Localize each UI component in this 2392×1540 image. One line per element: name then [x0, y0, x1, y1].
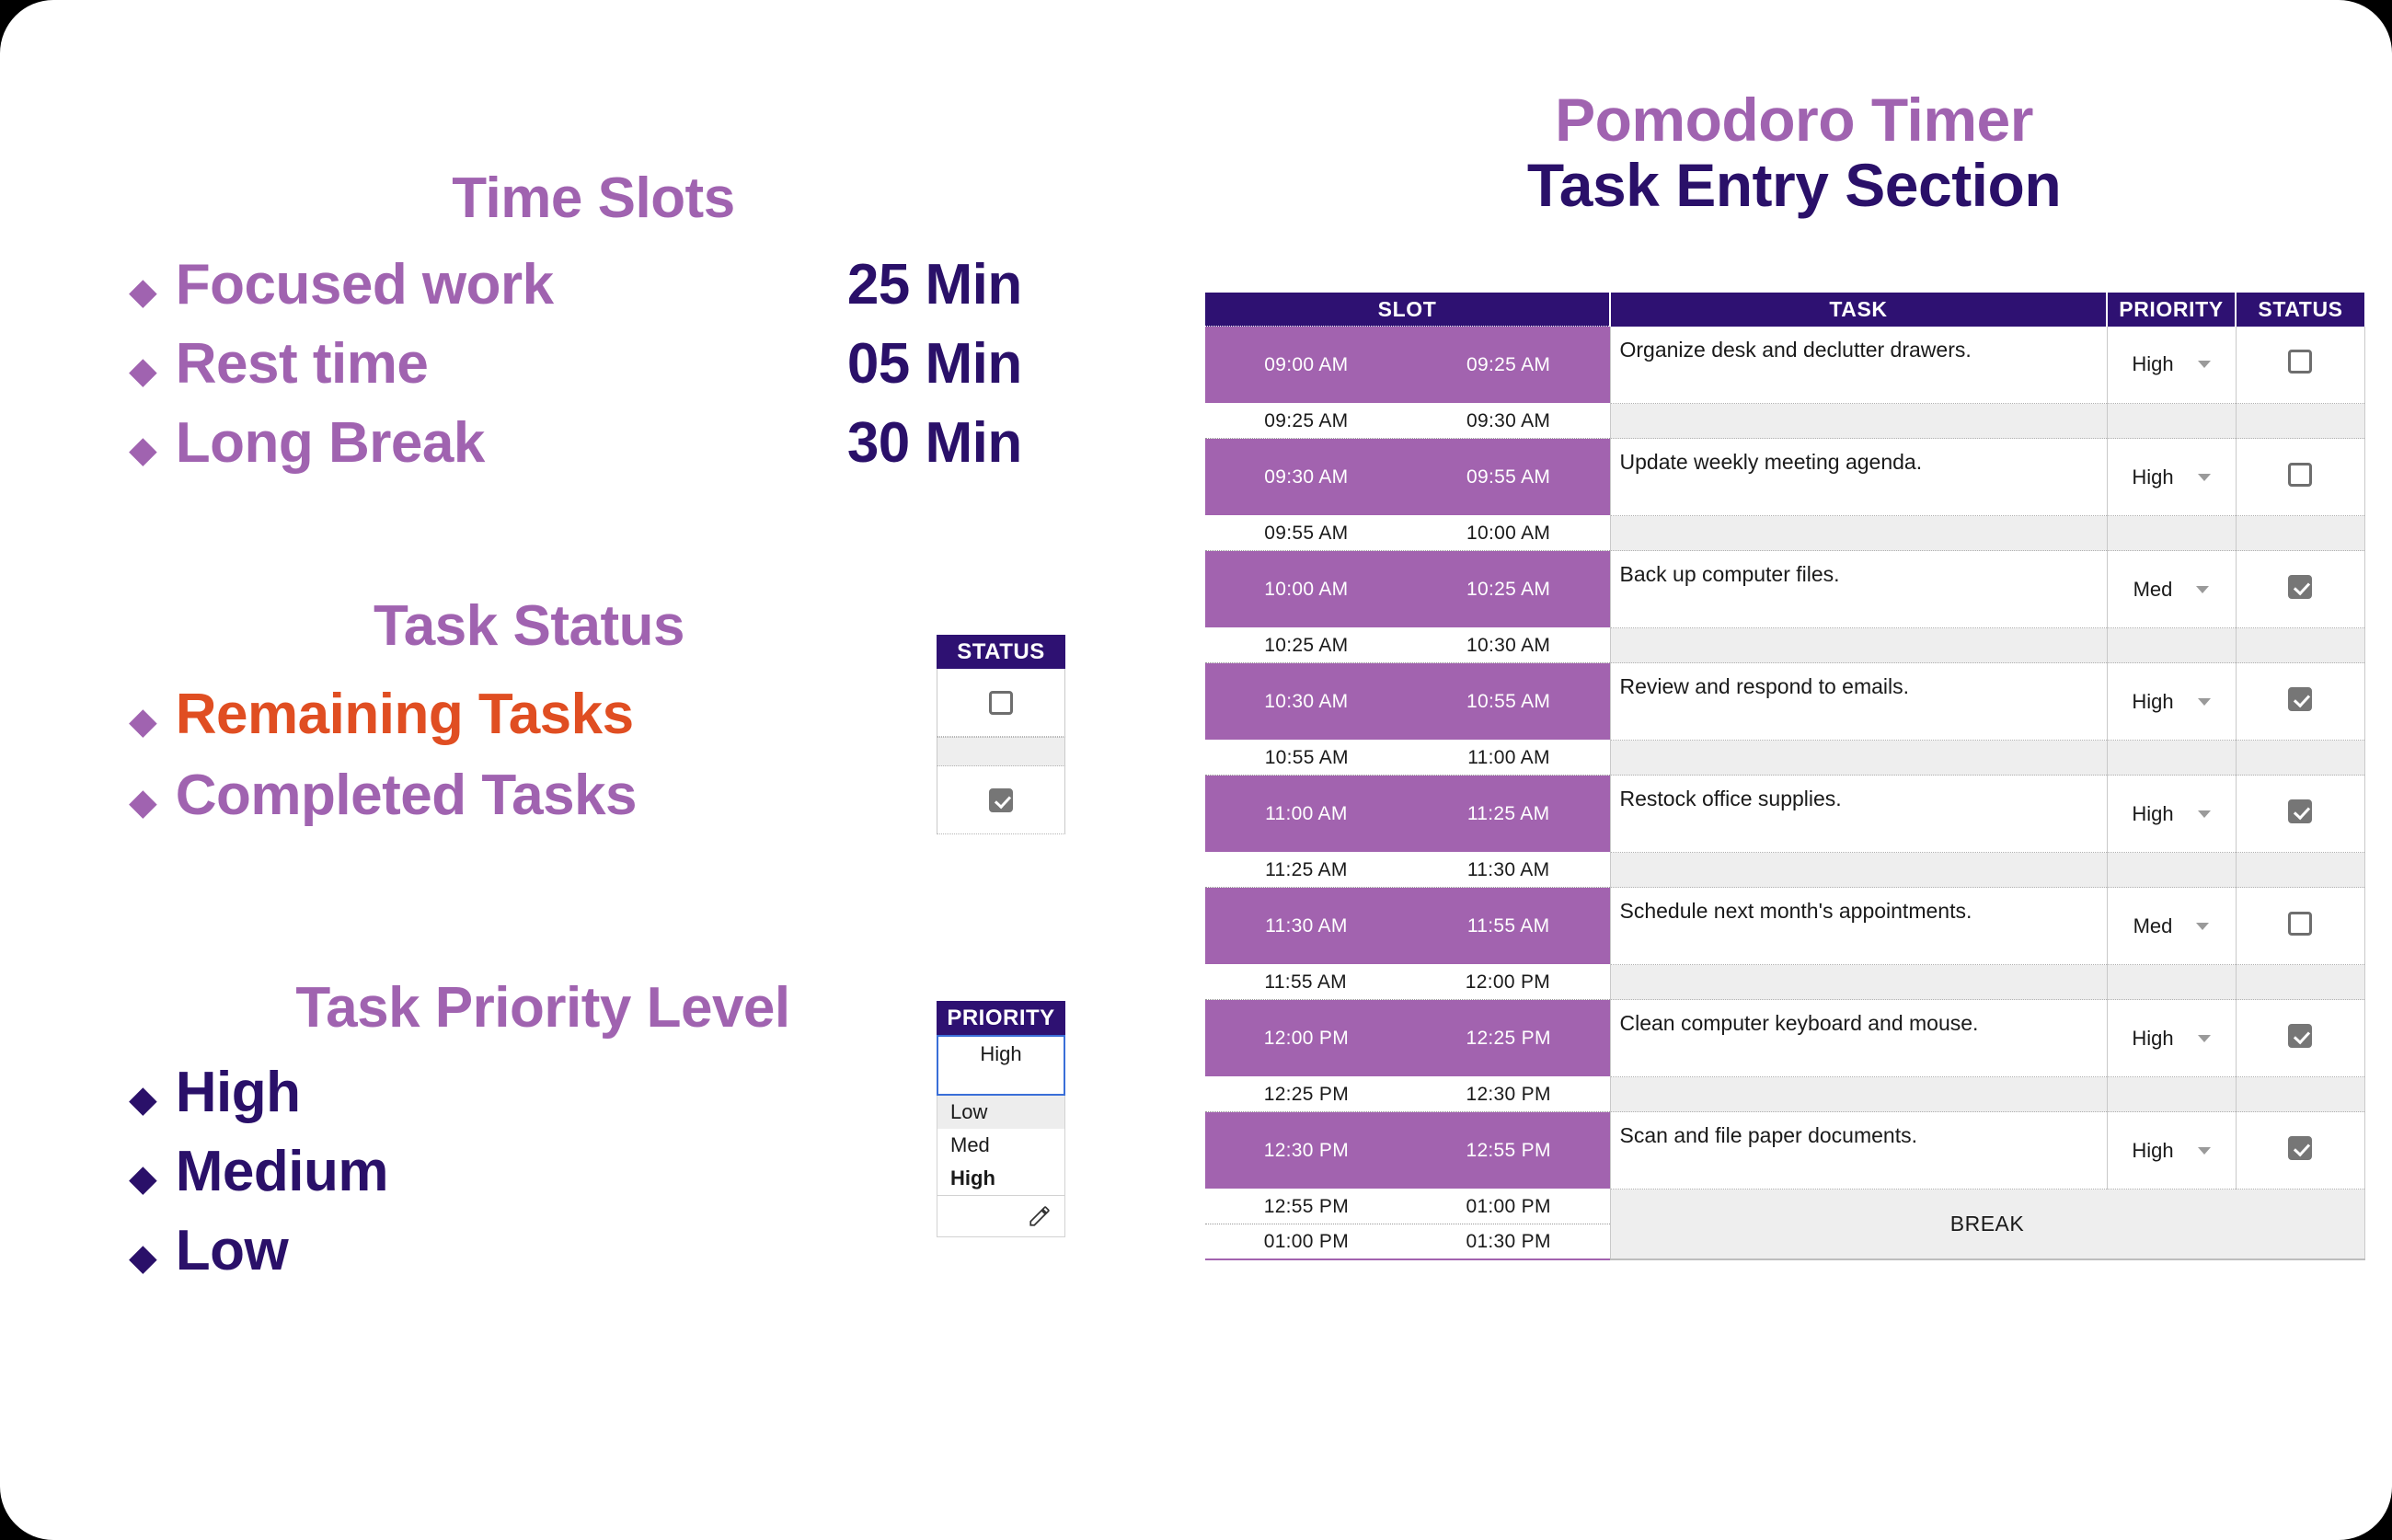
status-widget-header: STATUS [937, 635, 1065, 669]
time-slot-value: 25 Min [746, 257, 1022, 314]
table-row-break: 12:55 PM01:00 PMBREAK [1205, 1189, 2364, 1224]
page-title: Pomodoro Timer Task Entry Section [1196, 87, 2392, 219]
status-cell[interactable] [2236, 1112, 2364, 1189]
checked-checkbox-icon[interactable] [2288, 687, 2312, 711]
table-row: 10:30 AM10:55 AMReview and respond to em… [1205, 663, 2364, 741]
unchecked-checkbox-icon[interactable] [2288, 350, 2312, 374]
slot-end-time: 09:55 AM [1466, 466, 1550, 488]
task-description[interactable]: Back up computer files. [1610, 551, 2107, 628]
time-slots-heading: Time Slots [129, 170, 1058, 227]
task-description[interactable]: Update weekly meeting agenda. [1610, 439, 2107, 516]
slot-start-time: 12:55 PM [1264, 1196, 1349, 1218]
slot-start-time: 09:00 AM [1264, 354, 1348, 376]
priority-selected-value[interactable]: High [937, 1035, 1065, 1096]
priority-option-low[interactable]: Low [937, 1096, 1065, 1129]
priority-high-label: High [176, 1064, 301, 1121]
task-priority-heading: Task Priority Level [129, 980, 957, 1037]
slot-cell: 09:55 AM10:00 AM [1205, 516, 1610, 551]
status-widget-checked-cell[interactable] [937, 766, 1065, 834]
table-row: 11:30 AM11:55 AMSchedule next month's ap… [1205, 888, 2364, 965]
table-row-rest: 12:25 PM12:30 PM [1205, 1077, 2364, 1112]
priority-legend-widget: PRIORITY High Low Med High [937, 1001, 1065, 1251]
status-cell[interactable] [2236, 327, 2364, 404]
slot-start-time: 11:55 AM [1264, 971, 1347, 994]
empty-rest-cell [1610, 741, 2107, 776]
table-row-rest: 10:55 AM11:00 AM [1205, 741, 2364, 776]
empty-rest-cell [1610, 853, 2107, 888]
diamond-bullet-icon: ◆ [129, 1160, 157, 1197]
priority-option-high[interactable]: High [937, 1162, 1065, 1195]
slot-end-time: 12:55 PM [1466, 1140, 1550, 1162]
chevron-down-icon[interactable] [2198, 1035, 2211, 1042]
empty-rest-cell [2107, 853, 2236, 888]
slot-cell: 01:00 PM01:30 PM [1205, 1224, 1610, 1260]
checked-checkbox-icon[interactable] [989, 788, 1013, 812]
chevron-down-icon[interactable] [2198, 474, 2211, 481]
table-row: 09:00 AM09:25 AMOrganize desk and declut… [1205, 327, 2364, 404]
priority-value: High [2132, 1027, 2173, 1051]
empty-rest-cell [1610, 516, 2107, 551]
completed-tasks-label: Completed Tasks [176, 767, 637, 824]
status-cell[interactable] [2236, 888, 2364, 965]
slot-start-time: 09:25 AM [1264, 410, 1348, 432]
slot-start-time: 09:30 AM [1264, 466, 1348, 488]
priority-select[interactable]: Med [2107, 551, 2236, 628]
time-slot-value: 05 Min [746, 336, 1022, 393]
slot-start-time: 12:00 PM [1264, 1028, 1349, 1050]
slot-end-time: 10:55 AM [1466, 691, 1550, 713]
slot-cell: 10:25 AM10:30 AM [1205, 628, 1610, 663]
status-widget-spacer [937, 737, 1065, 766]
diamond-bullet-icon: ◆ [129, 703, 157, 740]
status-widget-unchecked-cell[interactable] [937, 669, 1065, 737]
empty-rest-cell [2236, 965, 2364, 1000]
column-header-status: STATUS [2236, 293, 2364, 327]
task-entry-panel: Pomodoro Timer Task Entry Section SLOT T… [1196, 0, 2392, 1540]
empty-rest-cell [2236, 404, 2364, 439]
slot-start-time: 10:00 AM [1264, 579, 1348, 601]
priority-select[interactable]: High [2107, 663, 2236, 741]
slot-end-time: 11:30 AM [1467, 859, 1550, 881]
priority-value: High [2132, 802, 2173, 826]
break-label: BREAK [1610, 1189, 2364, 1260]
slot-cell: 10:30 AM10:55 AM [1205, 663, 1610, 741]
checked-checkbox-icon[interactable] [2288, 799, 2312, 823]
diamond-bullet-icon: ◆ [129, 352, 157, 389]
column-header-slot: SLOT [1205, 293, 1610, 327]
empty-rest-cell [2107, 965, 2236, 1000]
priority-select[interactable]: High [2107, 776, 2236, 853]
empty-rest-cell [2236, 516, 2364, 551]
priority-option-med[interactable]: Med [937, 1129, 1065, 1162]
slot-cell: 11:00 AM11:25 AM [1205, 776, 1610, 853]
slot-end-time: 11:55 AM [1467, 915, 1550, 937]
time-slot-row: ◆ Rest time 05 Min [129, 336, 1058, 393]
column-header-priority: PRIORITY [2107, 293, 2236, 327]
table-row: 12:30 PM12:55 PMScan and file paper docu… [1205, 1112, 2364, 1189]
empty-rest-cell [1610, 628, 2107, 663]
diamond-bullet-icon: ◆ [129, 1239, 157, 1276]
task-description[interactable]: Scan and file paper documents. [1610, 1112, 2107, 1189]
priority-level-row: ◆ High [129, 1064, 957, 1121]
task-description[interactable]: Restock office supplies. [1610, 776, 2107, 853]
slot-cell: 10:00 AM10:25 AM [1205, 551, 1610, 628]
checked-checkbox-icon[interactable] [2288, 1024, 2312, 1048]
priority-value: Med [2133, 914, 2173, 938]
slot-end-time: 01:30 PM [1466, 1231, 1550, 1253]
chevron-down-icon[interactable] [2196, 923, 2209, 930]
task-description[interactable]: Clean computer keyboard and mouse. [1610, 1000, 2107, 1077]
slot-cell: 12:25 PM12:30 PM [1205, 1077, 1610, 1112]
slide-card: Time Slots ◆ Focused work 25 Min ◆ Rest … [0, 0, 2392, 1540]
slot-start-time: 10:25 AM [1264, 635, 1348, 657]
remaining-tasks-label: Remaining Tasks [176, 686, 634, 743]
slot-start-time: 09:55 AM [1264, 523, 1348, 545]
slot-end-time: 12:30 PM [1466, 1084, 1550, 1106]
legend-panel: Time Slots ◆ Focused work 25 Min ◆ Rest … [0, 0, 1104, 1540]
slot-end-time: 09:30 AM [1466, 410, 1550, 432]
table-row-rest: 09:55 AM10:00 AM [1205, 516, 2364, 551]
task-status-section: Task Status ◆ Remaining Tasks ◆ Complete… [129, 598, 929, 848]
time-slot-row: ◆ Focused work 25 Min [129, 257, 1058, 314]
empty-rest-cell [2236, 1077, 2364, 1112]
slot-end-time: 12:00 PM [1466, 971, 1550, 994]
task-status-row: ◆ Completed Tasks [129, 767, 929, 824]
diamond-bullet-icon: ◆ [129, 784, 157, 821]
slot-cell: 11:55 AM12:00 PM [1205, 965, 1610, 1000]
priority-widget-header: PRIORITY [937, 1001, 1065, 1035]
table-row: 10:00 AM10:25 AMBack up computer files.M… [1205, 551, 2364, 628]
empty-rest-cell [1610, 1077, 2107, 1112]
time-slot-label: Rest time [176, 336, 746, 393]
table-header-row: SLOT TASK PRIORITY STATUS [1205, 293, 2364, 327]
empty-rest-cell [2107, 1077, 2236, 1112]
slot-end-time: 10:25 AM [1466, 579, 1550, 601]
priority-value: High [2132, 465, 2173, 489]
time-slots-section: Time Slots ◆ Focused work 25 Min ◆ Rest … [129, 170, 1058, 494]
pencil-icon[interactable] [1028, 1204, 1052, 1228]
diamond-bullet-icon: ◆ [129, 431, 157, 468]
slot-end-time: 10:30 AM [1466, 635, 1550, 657]
column-header-task: TASK [1610, 293, 2107, 327]
priority-select[interactable]: High [2107, 439, 2236, 516]
slot-cell: 09:30 AM09:55 AM [1205, 439, 1610, 516]
slot-start-time: 01:00 PM [1264, 1231, 1349, 1253]
title-secondary: Task Entry Section [1196, 153, 2392, 218]
slot-start-time: 12:25 PM [1264, 1084, 1349, 1106]
chevron-down-icon[interactable] [2198, 810, 2211, 818]
status-cell[interactable] [2236, 1000, 2364, 1077]
chevron-down-icon[interactable] [2198, 361, 2211, 368]
unchecked-checkbox-icon[interactable] [989, 691, 1013, 715]
empty-rest-cell [1610, 965, 2107, 1000]
time-slot-label: Long Break [176, 415, 746, 472]
table-row: 11:00 AM11:25 AMRestock office supplies.… [1205, 776, 2364, 853]
slot-start-time: 11:25 AM [1265, 859, 1348, 881]
empty-rest-cell [1610, 404, 2107, 439]
priority-select[interactable]: High [2107, 1112, 2236, 1189]
time-slot-row: ◆ Long Break 30 Min [129, 415, 1058, 472]
slot-start-time: 11:00 AM [1265, 803, 1348, 825]
slot-end-time: 12:25 PM [1466, 1028, 1550, 1050]
priority-medium-label: Medium [176, 1144, 388, 1201]
table-row-rest: 09:25 AM09:30 AM [1205, 404, 2364, 439]
chevron-down-icon[interactable] [2196, 586, 2209, 593]
table-row: 12:00 PM12:25 PMClean computer keyboard … [1205, 1000, 2364, 1077]
empty-rest-cell [2236, 853, 2364, 888]
slot-cell: 11:30 AM11:55 AM [1205, 888, 1610, 965]
diamond-bullet-icon: ◆ [129, 273, 157, 310]
table-row-rest: 11:55 AM12:00 PM [1205, 965, 2364, 1000]
table-row: 09:30 AM09:55 AMUpdate weekly meeting ag… [1205, 439, 2364, 516]
priority-select[interactable]: Med [2107, 888, 2236, 965]
slot-start-time: 10:30 AM [1264, 691, 1348, 713]
priority-widget-footer [937, 1195, 1065, 1237]
status-cell[interactable] [2236, 776, 2364, 853]
task-schedule-table: SLOT TASK PRIORITY STATUS 09:00 AM09:25 … [1205, 293, 2365, 1260]
slot-end-time: 11:25 AM [1467, 803, 1550, 825]
time-slot-label: Focused work [176, 257, 746, 314]
status-cell[interactable] [2236, 439, 2364, 516]
priority-select[interactable]: High [2107, 1000, 2236, 1077]
priority-value: High [2132, 690, 2173, 714]
unchecked-checkbox-icon[interactable] [2288, 463, 2312, 487]
empty-rest-cell [2107, 741, 2236, 776]
status-legend-widget: STATUS [937, 635, 1065, 845]
priority-value: High [2132, 1139, 2173, 1163]
chevron-down-icon[interactable] [2198, 1147, 2211, 1155]
slot-cell: 10:55 AM11:00 AM [1205, 741, 1610, 776]
table-row-rest: 11:25 AM11:30 AM [1205, 853, 2364, 888]
empty-rest-cell [2236, 628, 2364, 663]
priority-value: High [2132, 352, 2173, 376]
slot-start-time: 11:30 AM [1265, 915, 1348, 937]
empty-rest-cell [2107, 404, 2236, 439]
empty-rest-cell [2107, 516, 2236, 551]
slot-end-time: 10:00 AM [1466, 523, 1550, 545]
checked-checkbox-icon[interactable] [2288, 575, 2312, 599]
slot-start-time: 12:30 PM [1264, 1140, 1349, 1162]
task-priority-section: Task Priority Level ◆ High ◆ Medium ◆ Lo… [129, 980, 957, 1302]
priority-value: Med [2133, 578, 2173, 602]
task-description[interactable]: Schedule next month's appointments. [1610, 888, 2107, 965]
priority-select[interactable]: High [2107, 327, 2236, 404]
time-slot-value: 30 Min [746, 415, 1022, 472]
chevron-down-icon[interactable] [2198, 698, 2211, 706]
empty-rest-cell [2236, 741, 2364, 776]
slot-cell: 09:25 AM09:30 AM [1205, 404, 1610, 439]
task-status-row: ◆ Remaining Tasks [129, 686, 929, 743]
diamond-bullet-icon: ◆ [129, 1081, 157, 1118]
task-description[interactable]: Review and respond to emails. [1610, 663, 2107, 741]
empty-rest-cell [2107, 628, 2236, 663]
status-cell[interactable] [2236, 551, 2364, 628]
task-description[interactable]: Organize desk and declutter drawers. [1610, 327, 2107, 404]
task-status-heading: Task Status [129, 598, 929, 655]
slot-cell: 09:00 AM09:25 AM [1205, 327, 1610, 404]
unchecked-checkbox-icon[interactable] [2288, 912, 2312, 936]
status-cell[interactable] [2236, 663, 2364, 741]
priority-level-row: ◆ Low [129, 1223, 957, 1280]
slot-end-time: 09:25 AM [1466, 354, 1550, 376]
slot-cell: 12:00 PM12:25 PM [1205, 1000, 1610, 1077]
table-row-rest: 10:25 AM10:30 AM [1205, 628, 2364, 663]
priority-low-label: Low [176, 1223, 288, 1280]
slot-cell: 12:30 PM12:55 PM [1205, 1112, 1610, 1189]
slot-cell: 11:25 AM11:30 AM [1205, 853, 1610, 888]
slot-start-time: 10:55 AM [1265, 747, 1349, 769]
checked-checkbox-icon[interactable] [2288, 1136, 2312, 1160]
slot-cell: 12:55 PM01:00 PM [1205, 1189, 1610, 1224]
slot-end-time: 11:00 AM [1467, 747, 1550, 769]
slot-end-time: 01:00 PM [1466, 1196, 1550, 1218]
title-primary: Pomodoro Timer [1196, 87, 2392, 153]
priority-level-row: ◆ Medium [129, 1144, 957, 1201]
